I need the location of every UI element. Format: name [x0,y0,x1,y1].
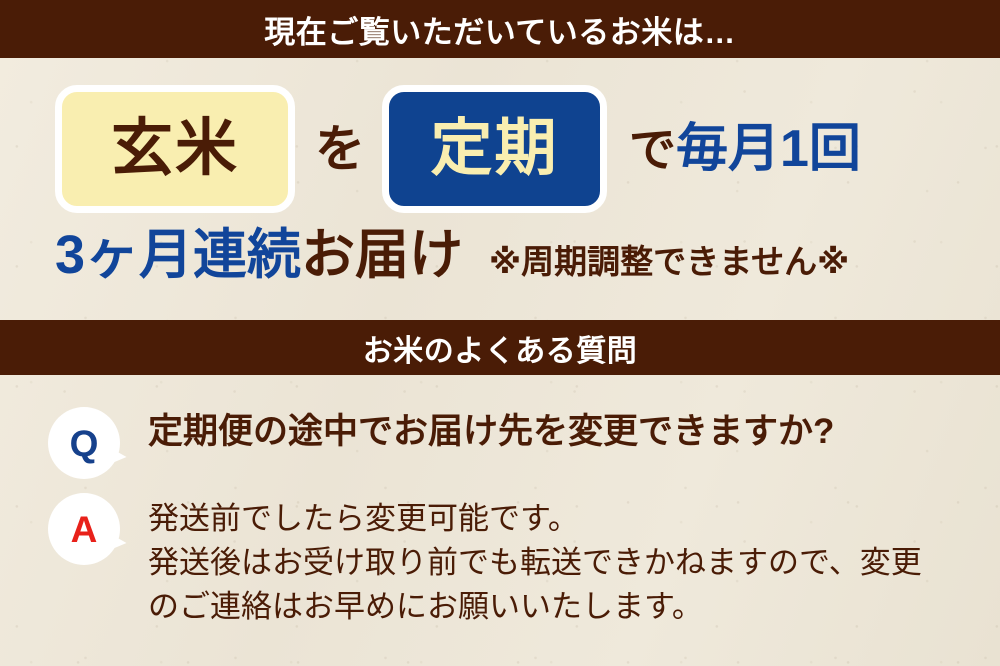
faq-answer-text: 発送前でしたら変更可能です。 発送後はお受け取り前でも転送できかねますので、変更… [148,497,922,629]
connector-de: で [629,126,676,173]
answer-bubble-icon: A [48,493,120,565]
hero-line-1: 玄米 を 定期 で 毎月1回 [0,85,1000,213]
cycle-note: ※周期調整できません※ [489,245,849,278]
faq-answer-row: A 発送前でしたら変更可能です。 発送後はお受け取り前でも転送できかねますので、… [0,493,1000,629]
answer-line: 発送後はお受け取り前でも転送できかねますので、変更 [148,541,922,585]
faq-banner-title: お米のよくある質問 [363,326,638,370]
top-banner-title: 現在ご覧いただいているお米は… [264,7,736,52]
faq-question-row: Q 定期便の途中でお届け先を変更できますか? [0,407,1000,479]
delivery-text: お届け [301,228,463,282]
faq-question-text-wrap: 定期便の途中でお届け先を変更できますか? [148,407,834,453]
frequency-text: 毎月1回 [676,123,861,175]
faq-answer-text-wrap: 発送前でしたら変更可能です。 発送後はお受け取り前でも転送できかねますので、変更… [148,493,922,629]
question-bubble-icon: Q [48,407,120,479]
faq-question-text: 定期便の途中でお届け先を変更できますか? [148,411,834,453]
infographic-page: 現在ご覧いただいているお米は… 玄米 を 定期 で 毎月1回 3ヶ月連続 お届け… [0,0,1000,666]
faq-section: Q 定期便の途中でお届け先を変更できますか? A 発送前でしたら変更可能です。 … [0,375,1000,666]
hero-line-2: 3ヶ月連続 お届け ※周期調整できません※ [55,228,985,298]
answer-line: 発送前でしたら変更可能です。 [148,497,922,541]
product-type-badge: 玄米 [55,85,295,213]
answer-bubble-wrap: A [48,493,128,565]
faq-banner: お米のよくある質問 [0,320,1000,375]
question-bubble-wrap: Q [48,407,128,479]
top-banner: 現在ご覧いただいているお米は… [0,0,1000,58]
duration-text: 3ヶ月連続 [55,228,301,282]
plan-type-badge: 定期 [382,85,607,213]
answer-line: のご連絡はお早めにお願いいたします。 [148,585,922,629]
hero-section: 玄米 を 定期 で 毎月1回 3ヶ月連続 お届け ※周期調整できません※ [0,58,1000,320]
frequency-group: で 毎月1回 [629,123,861,175]
particle-wo: を [315,124,365,174]
